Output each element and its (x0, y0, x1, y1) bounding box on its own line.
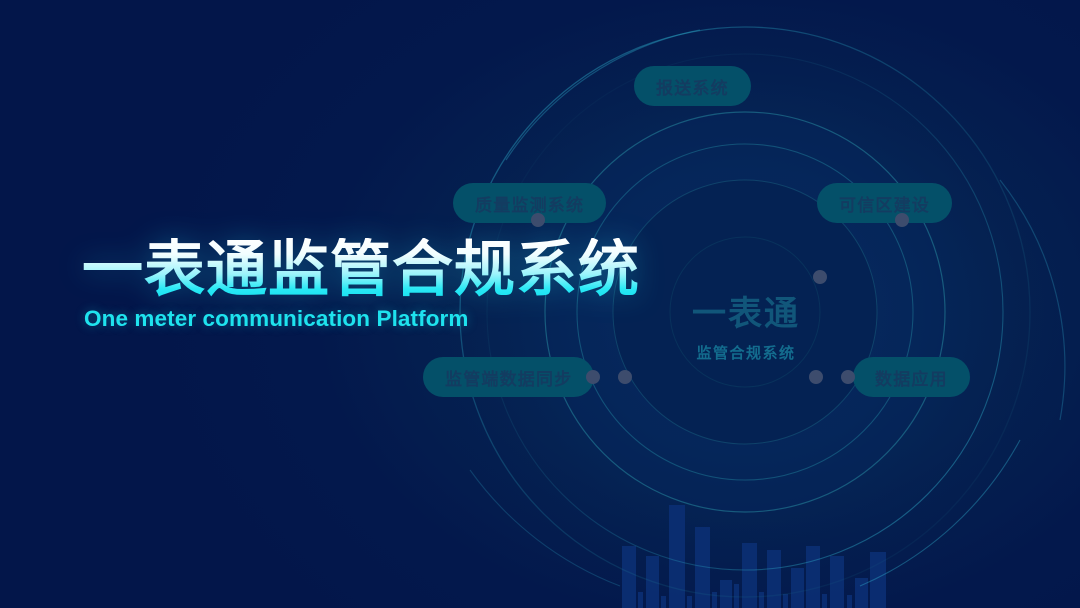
page-title: 一表通监管合规系统 (82, 238, 640, 300)
hub-subtitle: 监管合规系统 (663, 342, 829, 363)
hub-label-group: 一表通 监管合规系统 (663, 286, 829, 363)
page-subtitle: One meter communication Platform (84, 306, 640, 332)
node-label: 质量监测系统 (475, 191, 584, 216)
connector-dot (809, 370, 823, 384)
connector-dot (813, 270, 827, 284)
slide-canvas: 一表通监管合规系统 One meter communication Platfo… (0, 0, 1080, 608)
connector-dot (586, 370, 600, 384)
node-pill-zhiliang[interactable]: 质量监测系统 (453, 183, 606, 223)
connector-dot (618, 370, 632, 384)
node-pill-yingyong[interactable]: 数据应用 (853, 357, 970, 397)
node-pill-kexinqu[interactable]: 可信区建设 (817, 183, 952, 223)
connector-dot (531, 213, 545, 227)
node-label: 数据应用 (875, 365, 948, 390)
connector-dot (841, 370, 855, 384)
node-label: 可信区建设 (839, 191, 930, 216)
connector-dot (895, 213, 909, 227)
headline-block: 一表通监管合规系统 One meter communication Platfo… (82, 238, 640, 332)
node-pill-baosong[interactable]: 报送系统 (634, 66, 751, 106)
hub-title: 一表通 (663, 286, 829, 335)
node-label: 报送系统 (656, 74, 729, 99)
node-label: 监管端数据同步 (445, 365, 572, 390)
node-pill-tongbu[interactable]: 监管端数据同步 (423, 357, 594, 397)
